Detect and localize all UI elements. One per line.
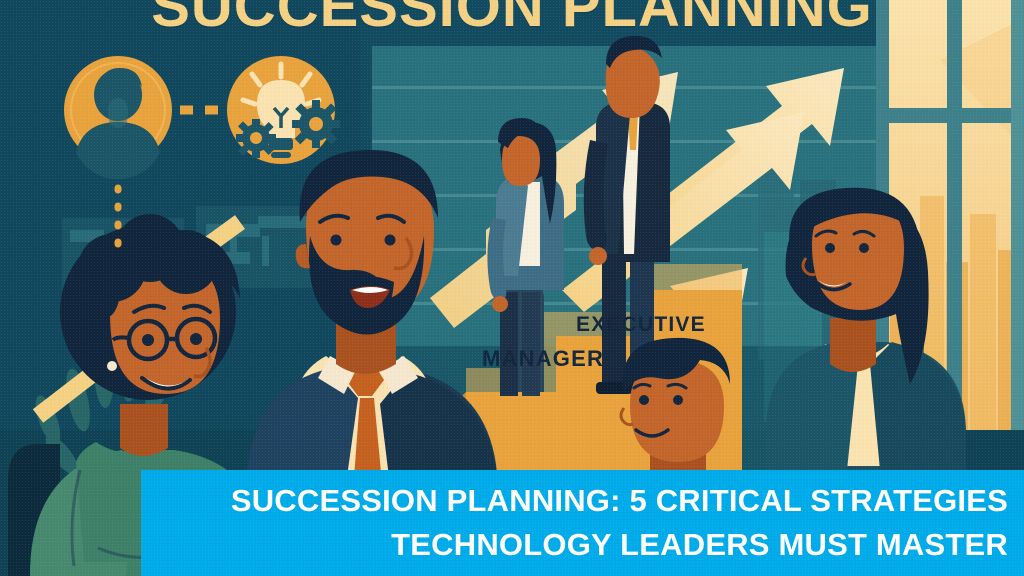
headline-line-1: SUCCESSION PLANNING: 5 CRITICAL STRATEGI… [231,479,1008,523]
page-title: SUCCESSION PLANNING [0,0,1024,36]
step-label-manager: MANAGER [482,346,604,372]
poster-canvas: SUCCESSION PLANNING EXECUTIVE MANAGER SU… [0,0,1024,576]
headline-banner: SUCCESSION PLANNING: 5 CRITICAL STRATEGI… [141,470,1024,576]
headline-line-2: TECHNOLOGY LEADERS MUST MASTER [391,523,1008,567]
step-label-executive: EXECUTIVE [576,313,706,337]
